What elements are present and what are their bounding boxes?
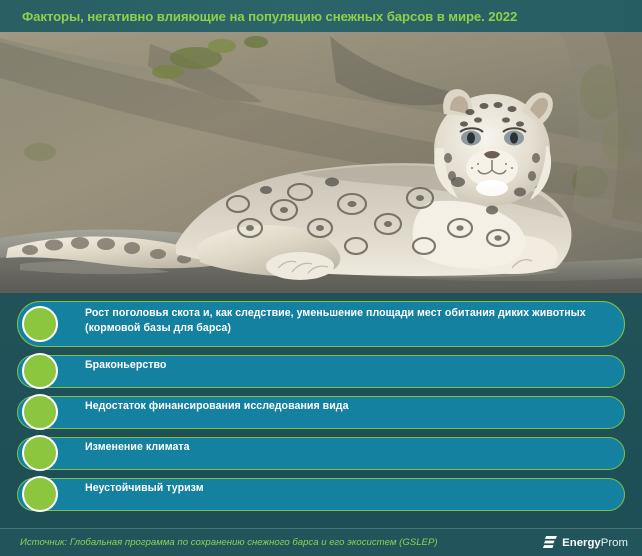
factor-list: Рост поголовья скота и, как следствие, у…: [0, 293, 642, 522]
page-title: Факторы, негативно влияющие на популяцию…: [22, 9, 517, 24]
bullet-marker-icon: [22, 476, 58, 512]
factor-label: Неустойчивый туризм: [85, 481, 610, 496]
bullet-marker-icon: [22, 394, 58, 430]
factor-label: Браконьерство: [85, 358, 610, 373]
source-note: Источник: Глобальная программа по сохран…: [20, 537, 438, 548]
snow-leopard-photo: [0, 32, 642, 293]
factor-label: Недостаток финансирования исследования в…: [85, 399, 610, 414]
energyprom-e-icon: [542, 535, 558, 550]
infographic-root: Факторы, негативно влияющие на популяцию…: [0, 0, 642, 556]
title-bar: Факторы, негативно влияющие на популяцию…: [0, 0, 642, 32]
factor-label: Рост поголовья скота и, как следствие, у…: [85, 306, 610, 335]
logo-text-light: Prom: [601, 537, 628, 549]
bullet-marker-icon: [22, 306, 58, 342]
energyprom-logo[interactable]: EnergyProm: [542, 535, 628, 550]
logo-text: EnergyProm: [562, 537, 628, 549]
factor-label: Изменение климата: [85, 440, 610, 455]
logo-text-bold: Energy: [562, 537, 601, 549]
bullet-marker-icon: [22, 435, 58, 471]
footer: Источник: Глобальная программа по сохран…: [0, 529, 642, 556]
bullet-marker-icon: [22, 353, 58, 389]
